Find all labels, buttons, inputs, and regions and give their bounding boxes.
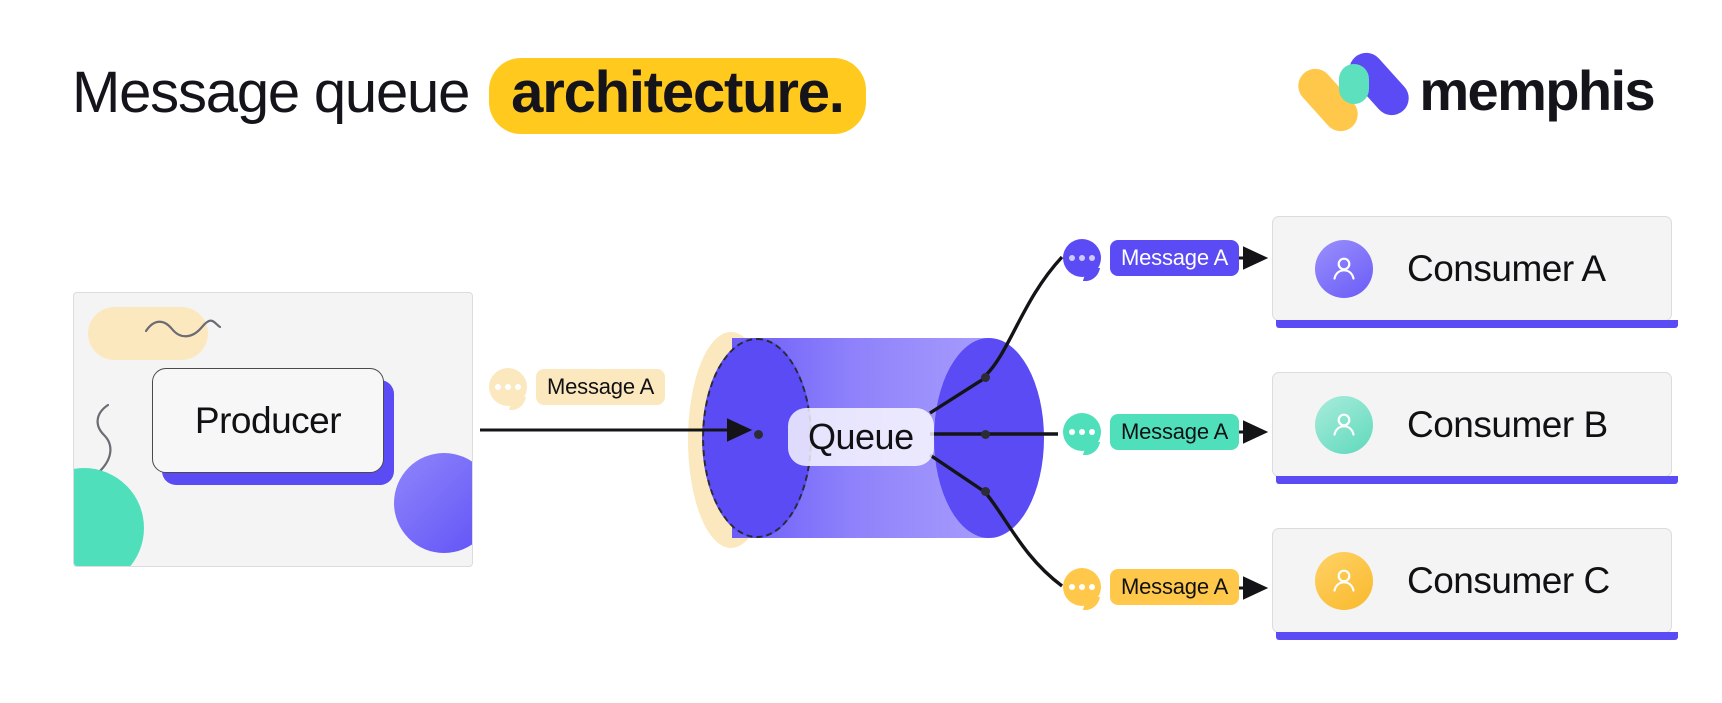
consumer-name: Consumer A xyxy=(1407,248,1606,290)
consumer-name: Consumer C xyxy=(1407,560,1610,602)
connector-queue-to-consumer-c xyxy=(985,492,1062,586)
connector-queue-fan-top xyxy=(930,378,985,413)
consumer-card-c[interactable]: Consumer C xyxy=(1272,528,1672,633)
chat-bubble-icon xyxy=(1063,413,1101,451)
consumer-name: Consumer B xyxy=(1407,404,1608,446)
user-icon xyxy=(1315,396,1373,454)
consumer-card-b[interactable]: Consumer B xyxy=(1272,372,1672,477)
user-icon xyxy=(1315,240,1373,298)
diagram-canvas: Message queue architecture. memphis Prod… xyxy=(0,0,1722,703)
chat-bubble-icon xyxy=(1063,239,1101,277)
message-badge-label: Message A xyxy=(1110,240,1239,276)
user-icon xyxy=(1315,552,1373,610)
queue-port-outbound-middle xyxy=(981,430,990,439)
chat-bubble-icon xyxy=(1063,568,1101,606)
connector-queue-to-consumer-a xyxy=(985,257,1062,376)
queue-port-outbound-bottom xyxy=(981,487,990,496)
queue-label: Queue xyxy=(788,408,934,466)
message-badge-label: Message A xyxy=(1110,414,1239,450)
queue-port-inbound xyxy=(754,430,763,439)
message-badge-to-consumer-b[interactable]: Message A xyxy=(1063,413,1239,451)
consumer-card-a[interactable]: Consumer A xyxy=(1272,216,1672,321)
message-badge-to-consumer-c[interactable]: Message A xyxy=(1063,568,1239,606)
message-badge-label: Message A xyxy=(1110,569,1239,605)
chat-bubble-icon xyxy=(489,368,527,406)
queue-port-outbound-top xyxy=(981,373,990,382)
connector-queue-fan-bottom xyxy=(930,455,985,492)
message-badge-producer-out[interactable]: Message A xyxy=(489,368,665,406)
message-badge-label: Message A xyxy=(536,369,665,405)
message-badge-to-consumer-a[interactable]: Message A xyxy=(1063,239,1239,277)
